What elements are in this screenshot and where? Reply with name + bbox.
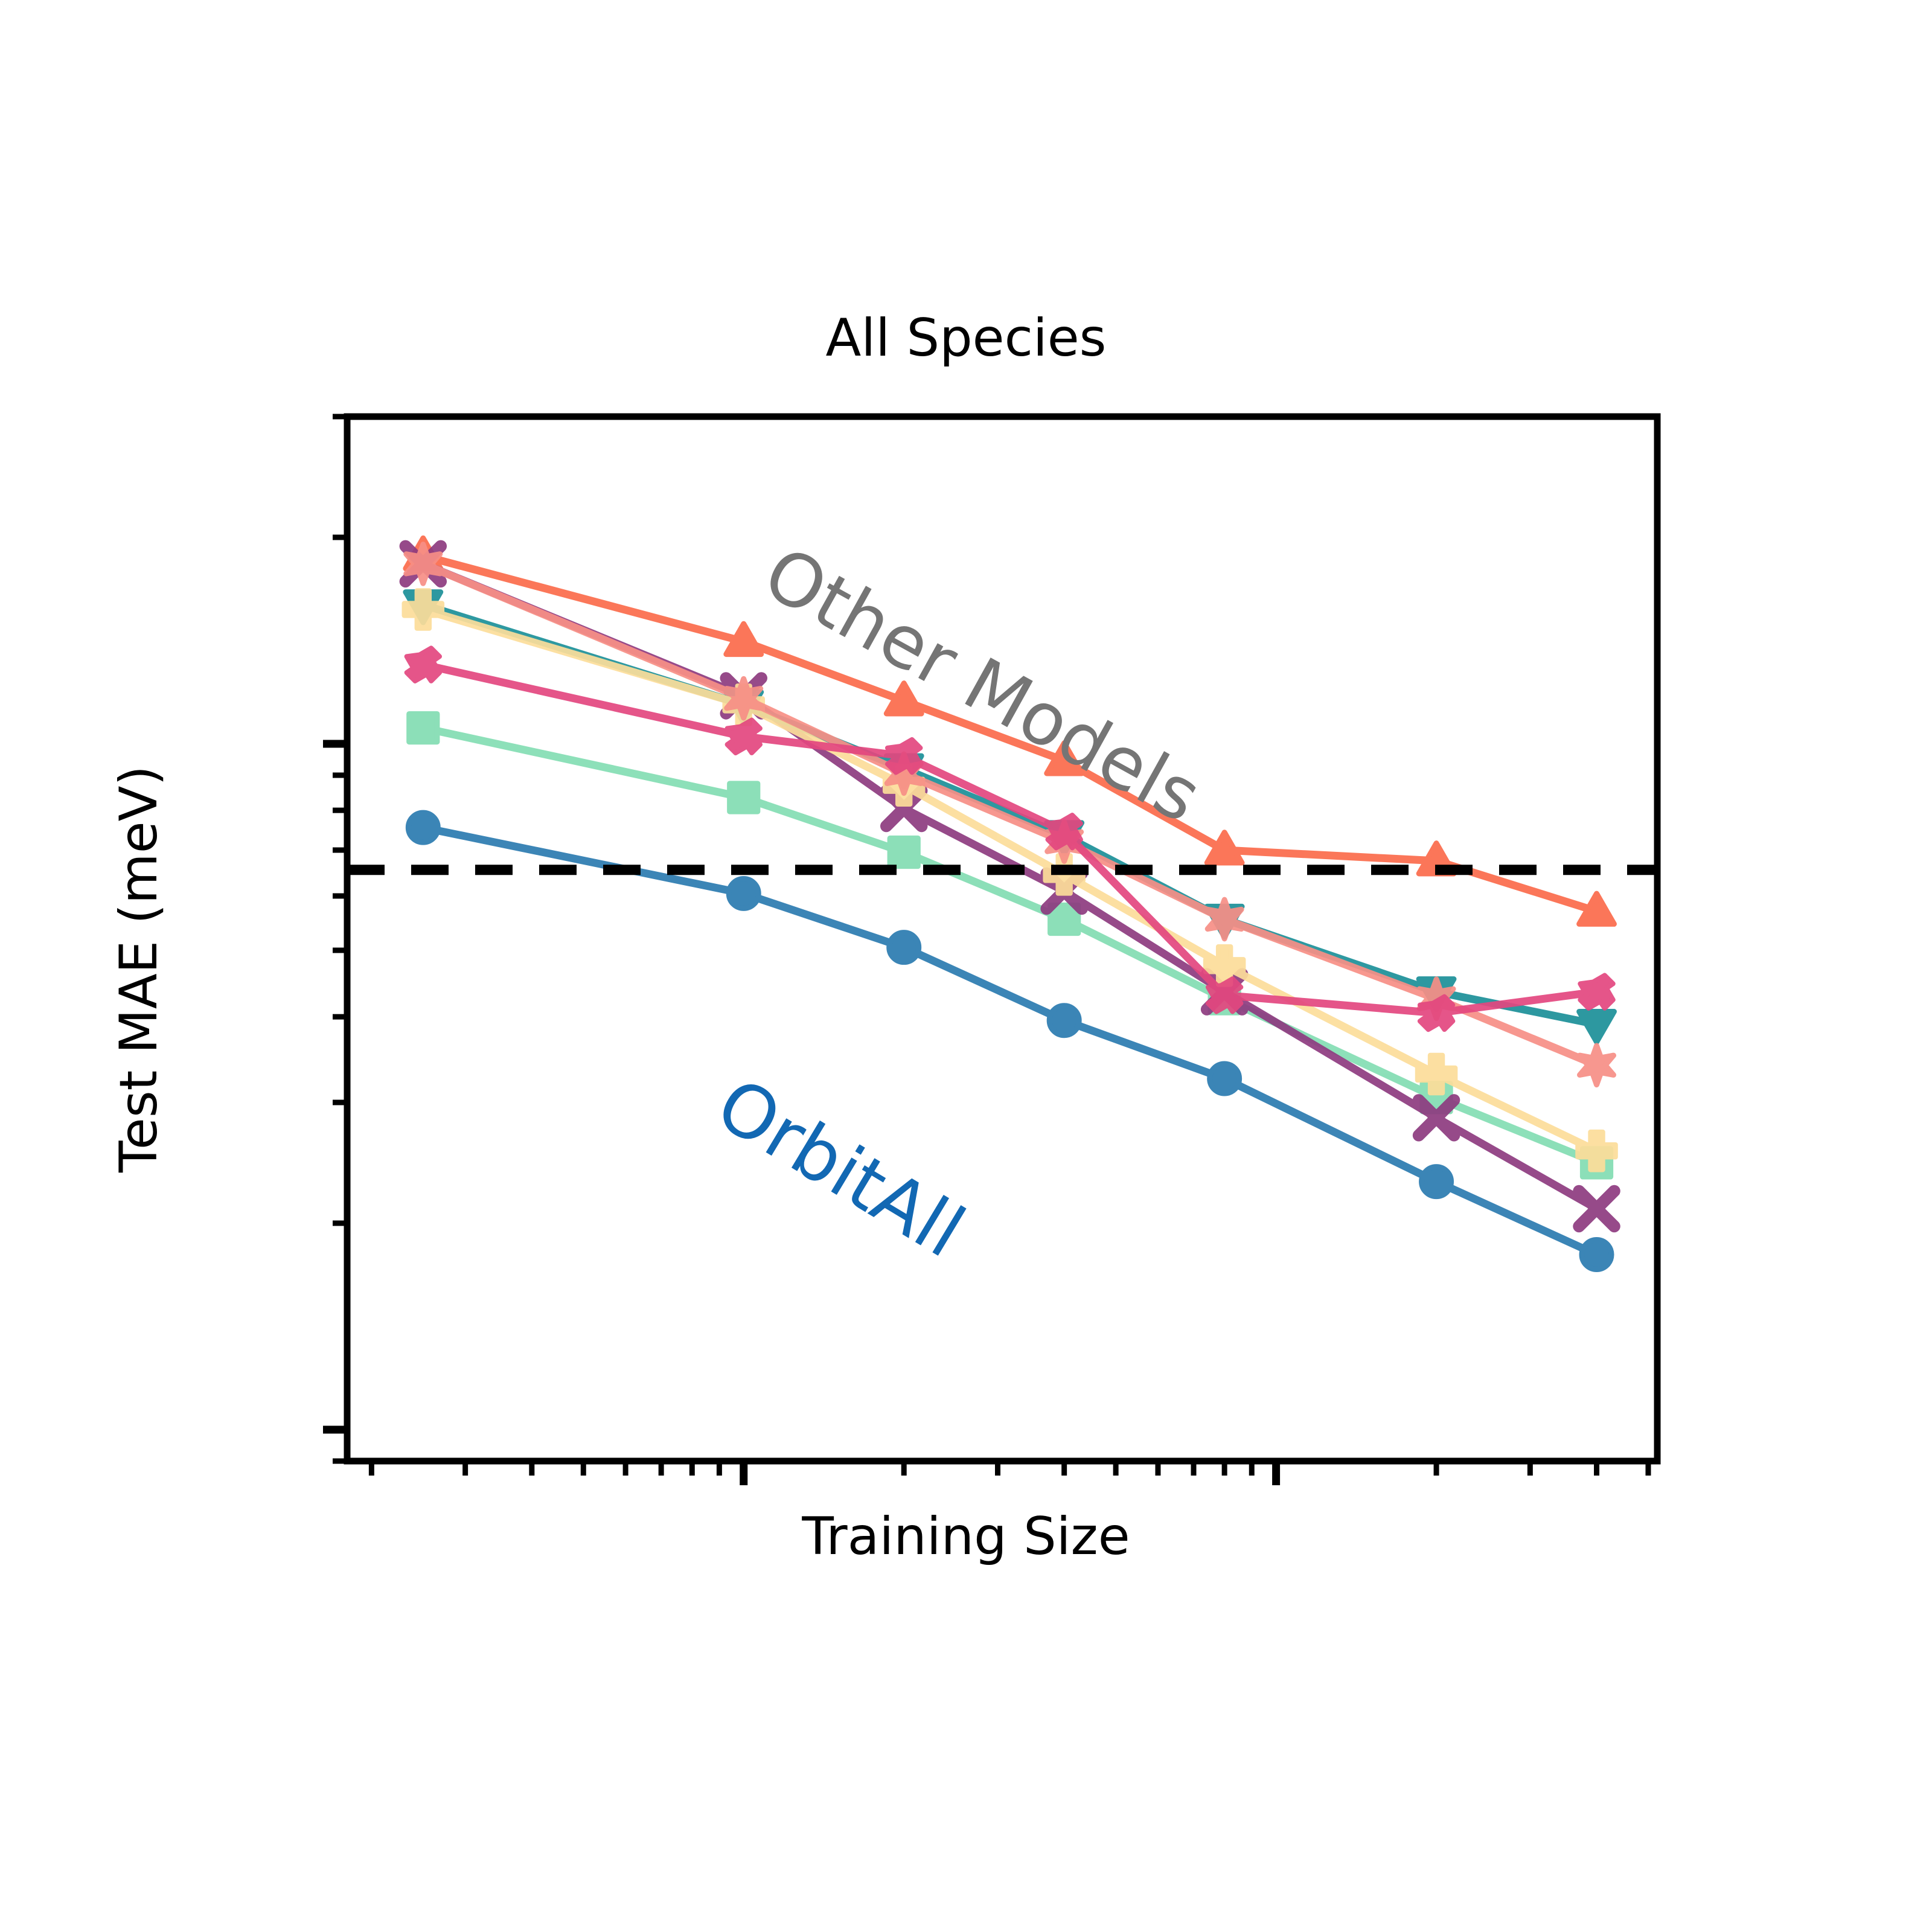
data-point-marker: [1210, 1064, 1239, 1093]
axes-layer: [323, 417, 1657, 1485]
series-orbitall: [408, 813, 1611, 1269]
data-point-marker: [890, 838, 918, 866]
data-point-marker: [1582, 1240, 1611, 1270]
data-point-marker: [1422, 1167, 1451, 1197]
data-point-marker: [888, 740, 920, 772]
plot-area: [0, 0, 1932, 1932]
data-point-marker: [407, 648, 440, 680]
data-point-marker: [1579, 1191, 1614, 1226]
data-point-marker: [1049, 1006, 1079, 1035]
data-point-marker: [889, 933, 919, 962]
axes-frame: [347, 417, 1657, 1461]
data-point-marker: [409, 714, 437, 741]
data-point-marker: [1048, 815, 1080, 848]
data-point-marker: [1580, 1046, 1614, 1085]
series-layer: [405, 538, 1616, 1269]
figure-canvas: All Species Test MAE (meV) Training Size…: [0, 0, 1932, 1932]
data-point-marker: [730, 784, 758, 811]
data-point-marker: [1580, 975, 1613, 1008]
data-point-marker: [1579, 1011, 1614, 1041]
data-point-marker: [1051, 905, 1078, 933]
series-line: [423, 828, 1597, 1255]
series-model-d: [406, 546, 1614, 1227]
data-point-marker: [408, 813, 438, 842]
data-point-marker: [729, 878, 758, 908]
data-point-marker: [728, 720, 760, 753]
